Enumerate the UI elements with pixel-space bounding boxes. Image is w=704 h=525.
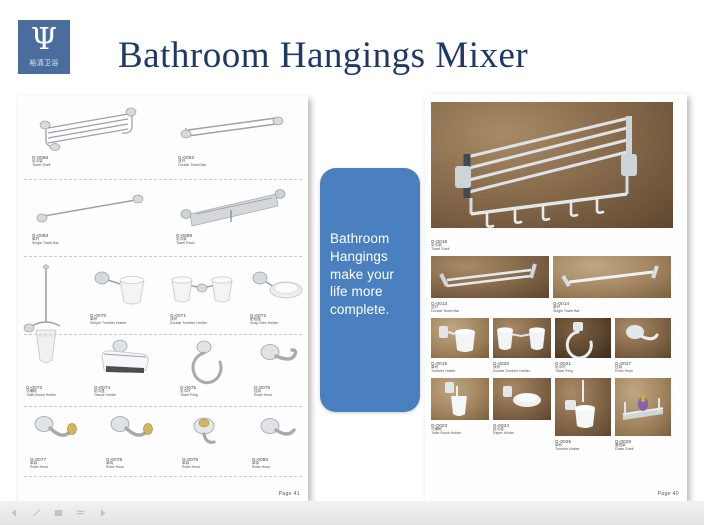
product-cell: G-0019 单杯 Tumbler Holder: [431, 318, 489, 374]
double-towel-bar-illustration: [431, 256, 549, 298]
slide-header: Ψ 裕清卫浴 Bathroom Hangings Mixer: [0, 0, 704, 92]
product-label: G-0025 单杯 Tumbler Holder: [555, 440, 580, 452]
product-label: G-0019 单杯 Tumbler Holder: [431, 362, 456, 374]
product-cell: G-0068 毛巾架 Towel Shelf: [32, 106, 150, 168]
product-cell: G-0078 单钩 Robe Hook: [106, 414, 168, 470]
product-cell: G-0080 单钩 Robe Hook: [252, 414, 308, 470]
callout-text: Bathroom Hangings make your life more co…: [330, 230, 412, 319]
callout-box: Bathroom Hangings make your life more co…: [320, 168, 420, 412]
product-cell: G-0021 毛巾环 Towel Ring: [555, 318, 611, 374]
toilet-brush-holder-illustration: [431, 378, 489, 420]
product-label: G-0077 单钩 Robe Hook: [30, 458, 48, 470]
product-label: G-0027 挂钩 Robe Hook: [615, 362, 633, 374]
product-photo: [431, 256, 549, 298]
product-label: G-0079 单钩 Robe Hook: [182, 458, 200, 470]
product-photo: [431, 318, 489, 358]
product-photo: [555, 378, 611, 436]
tissue-holder-illustration: [94, 340, 164, 380]
product-cell: G-0075 毛巾环 Towel Ring: [180, 340, 240, 398]
product-label: G-0024 纸巾盒 Paper Holder: [493, 424, 514, 436]
product-cell: G-0020 双杯 Double Tumbler Holder: [493, 318, 551, 374]
catalog-page-left: G-0068 毛巾架 Towel Shelf G-0082 双杆 Double …: [18, 96, 308, 501]
product-label: G-0014 单杆 Single Towel Bar: [553, 302, 580, 314]
catalog-page-right: G-0018 毛巾架 Towel Shelf G-0013 双杆 Double …: [425, 94, 687, 501]
brand-logo: Ψ 裕清卫浴: [18, 20, 70, 74]
brand-chinese-name: 裕清卫浴: [29, 58, 58, 68]
towel-ring-illustration: [555, 318, 611, 358]
product-label: G-0023 马桶刷 Toilet Brush Holder: [431, 424, 461, 436]
product-cell: G-0072 肥皂盒 Soap Dish Holder: [250, 266, 308, 326]
product-label: G-0071 双杯 Double Tumbler Holder: [170, 314, 207, 326]
product-label: G-0072 肥皂盒 Soap Dish Holder: [250, 314, 278, 326]
product-cell: G-0025 单杯 Tumbler Holder: [555, 378, 611, 452]
product-cell: G-0028 置物架 Glass Shelf: [615, 378, 671, 452]
single-towel-bar-illustration: [553, 256, 671, 298]
product-photo: [493, 318, 551, 358]
robe-hook-illustration: [254, 340, 308, 380]
presentation-toolbar[interactable]: [0, 501, 704, 525]
product-cell: G-0024 纸巾盒 Paper Holder: [493, 378, 551, 436]
double-towel-bar-illustration: [178, 112, 288, 150]
product-label: G-0080 单钩 Robe Hook: [252, 458, 270, 470]
robe-hook-illustration: [182, 414, 240, 454]
robe-hook-illustration: [615, 318, 671, 358]
product-label: G-0074 纸巾盒 Tissue Holder: [94, 386, 116, 398]
product-cell: G-0070 单杯 Simple Tumbler Holder: [90, 266, 162, 326]
product-cell: G-0082 双杆 Double Towel Bar: [178, 112, 288, 168]
robe-hook-illustration: [30, 414, 92, 454]
product-cell: G-0018 毛巾架 Towel Shelf: [431, 102, 673, 252]
pen-icon[interactable]: [30, 507, 43, 519]
product-label: G-0021 毛巾环 Towel Ring: [555, 362, 573, 374]
paper-holder-illustration: [493, 378, 551, 420]
product-label: G-0089 毛巾架 Towel Rack: [176, 234, 194, 246]
row-divider: [24, 334, 302, 335]
page-number: Page 41: [279, 491, 300, 497]
product-cell: G-0074 纸巾盒 Tissue Holder: [94, 340, 164, 398]
back-arrow-icon[interactable]: [8, 507, 21, 519]
product-cell: G-0083 单杆 Single Towel Bar: [32, 188, 150, 246]
product-label: G-0073 马桶刷 Toilet Brush Holder: [26, 386, 56, 398]
product-cell: G-0073 马桶刷 Toilet Brush Holder: [26, 346, 82, 398]
product-label: G-0078 单钩 Robe Hook: [106, 458, 124, 470]
page-title: Bathroom Hangings Mixer: [118, 34, 528, 77]
psi-symbol-icon: Ψ: [31, 25, 57, 55]
product-photo: [555, 318, 611, 358]
row-divider: [24, 179, 302, 180]
towel-rack-illustration: [176, 184, 290, 228]
product-photo: [431, 378, 489, 420]
product-photo: [493, 378, 551, 420]
product-label: G-0082 双杆 Double Towel Bar: [178, 156, 206, 168]
product-cell: G-0027 挂钩 Robe Hook: [615, 318, 671, 374]
row-divider: [24, 256, 302, 257]
product-cell: G-0076 挂钩 Robe Hook: [254, 340, 308, 398]
page-number: Page 40: [658, 491, 679, 497]
product-label: G-0070 单杯 Simple Tumbler Holder: [90, 314, 127, 326]
product-label: G-0020 双杯 Double Tumbler Holder: [493, 362, 530, 374]
towel-shelf-illustration: [32, 106, 150, 150]
tumbler-holder-illustration: [431, 318, 489, 358]
double-tumbler-holder-illustration: [170, 266, 252, 308]
product-cell: G-0071 双杯 Double Tumbler Holder: [170, 266, 252, 326]
product-cell: G-0079 单钩 Robe Hook: [182, 414, 240, 470]
product-label: G-0083 单杆 Single Towel Bar: [32, 234, 59, 246]
tumbler-holder-illustration: [555, 378, 611, 436]
single-towel-bar-illustration: [32, 188, 150, 228]
soap-dish-holder-illustration: [250, 266, 308, 308]
forward-arrow-icon[interactable]: [96, 507, 109, 519]
product-cell: G-0014 单杆 Single Towel Bar: [553, 256, 671, 314]
product-label: G-0075 毛巾环 Towel Ring: [180, 386, 198, 398]
robe-hook-illustration: [252, 414, 308, 454]
product-label: G-0076 挂钩 Robe Hook: [254, 386, 272, 398]
slide-icon[interactable]: [52, 507, 65, 519]
product-photo: [615, 318, 671, 358]
single-tumbler-holder-illustration: [90, 266, 162, 308]
product-label: G-0068 毛巾架 Towel Shelf: [32, 156, 50, 168]
double-tumbler-holder-illustration: [493, 318, 551, 358]
product-cell: G-0013 双杆 Double Towel Bar: [431, 256, 549, 314]
row-divider: [24, 406, 302, 407]
product-photo: [553, 256, 671, 298]
product-label: G-0028 置物架 Glass Shelf: [615, 440, 633, 452]
towel-shelf-with-hooks-illustration: [431, 102, 673, 228]
product-photo: [615, 378, 671, 436]
product-photo: [431, 102, 673, 228]
robe-hook-illustration: [106, 414, 168, 454]
glass-shelf-illustration: [615, 378, 671, 436]
product-cell: G-0023 马桶刷 Toilet Brush Holder: [431, 378, 489, 436]
row-divider: [24, 476, 302, 477]
product-label: G-0018 毛巾架 Towel Shelf: [431, 240, 449, 252]
product-label: G-0013 双杆 Double Towel Bar: [431, 302, 459, 314]
product-cell: G-0077 单钩 Robe Hook: [30, 414, 92, 470]
towel-ring-illustration: [180, 340, 240, 380]
product-cell: G-0089 毛巾架 Towel Rack: [176, 184, 290, 246]
menu-icon[interactable]: [74, 507, 87, 519]
